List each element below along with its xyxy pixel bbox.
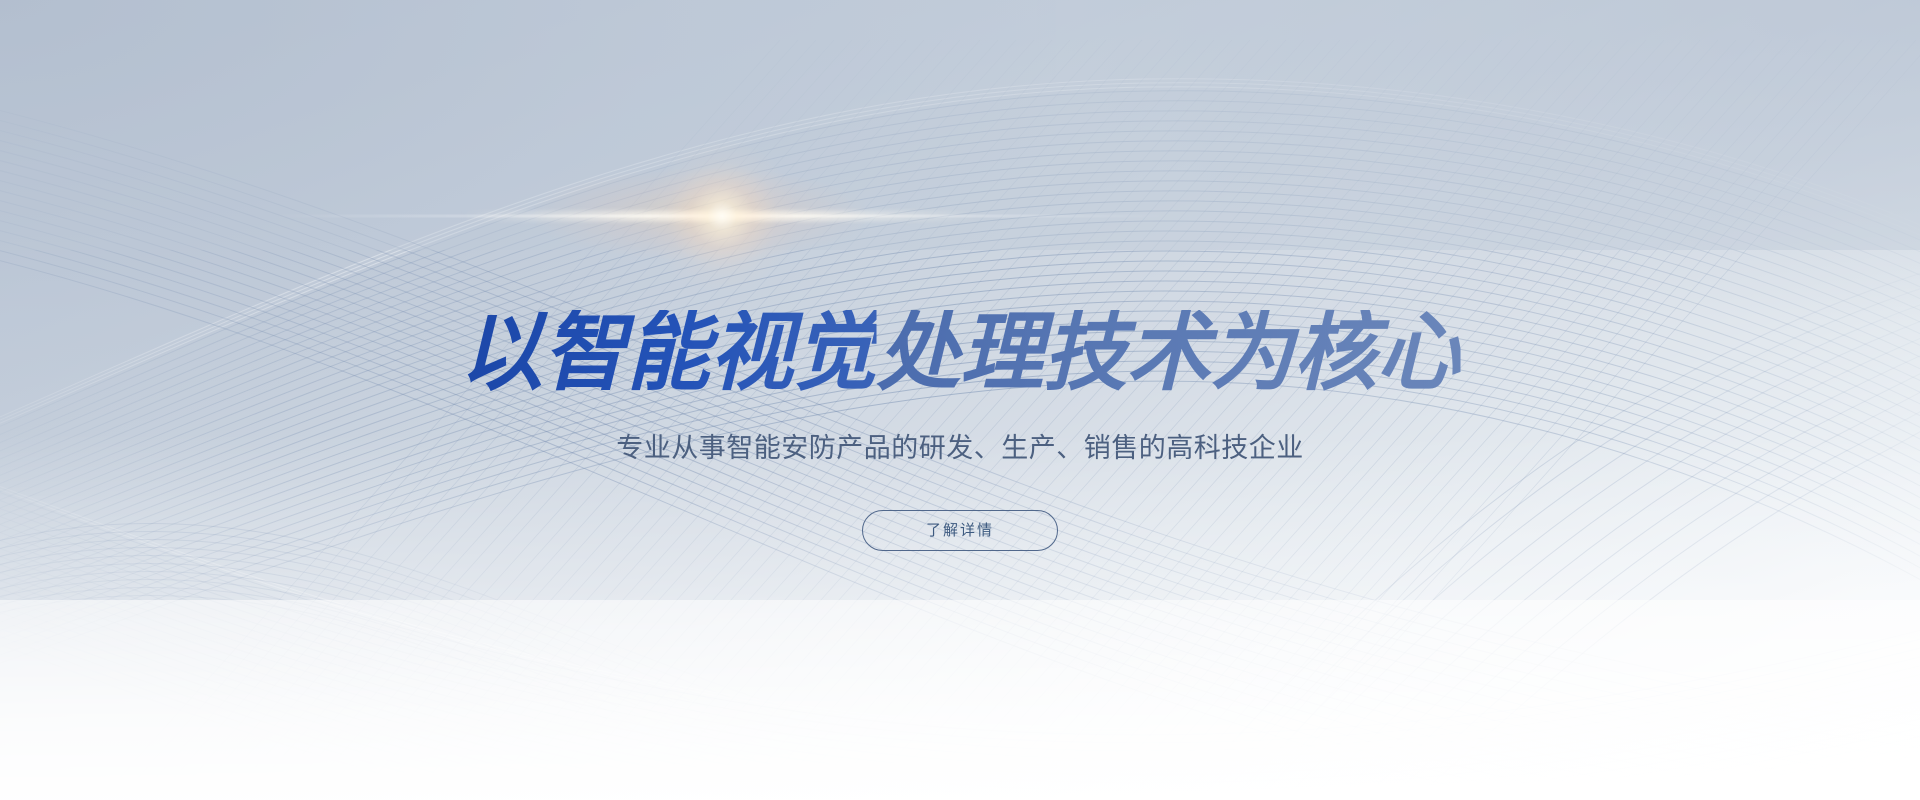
hero-content: 以智能视觉处理技术为核心 专业从事智能安防产品的研发、生产、销售的高科技企业 了… [0,0,1920,800]
learn-more-button[interactable]: 了解详情 [862,510,1058,551]
hero-headline: 以智能视觉处理技术为核心 [29,310,1891,396]
hero-cta-container: 了解详情 [0,510,1920,551]
headline-segment-primary: 以智能视觉 [459,310,876,396]
headline-segment-secondary: 处理技术为核心 [877,310,1461,396]
hero-banner: 以智能视觉处理技术为核心 专业从事智能安防产品的研发、生产、销售的高科技企业 了… [0,0,1920,800]
hero-subtitle: 专业从事智能安防产品的研发、生产、销售的高科技企业 [0,431,1920,466]
